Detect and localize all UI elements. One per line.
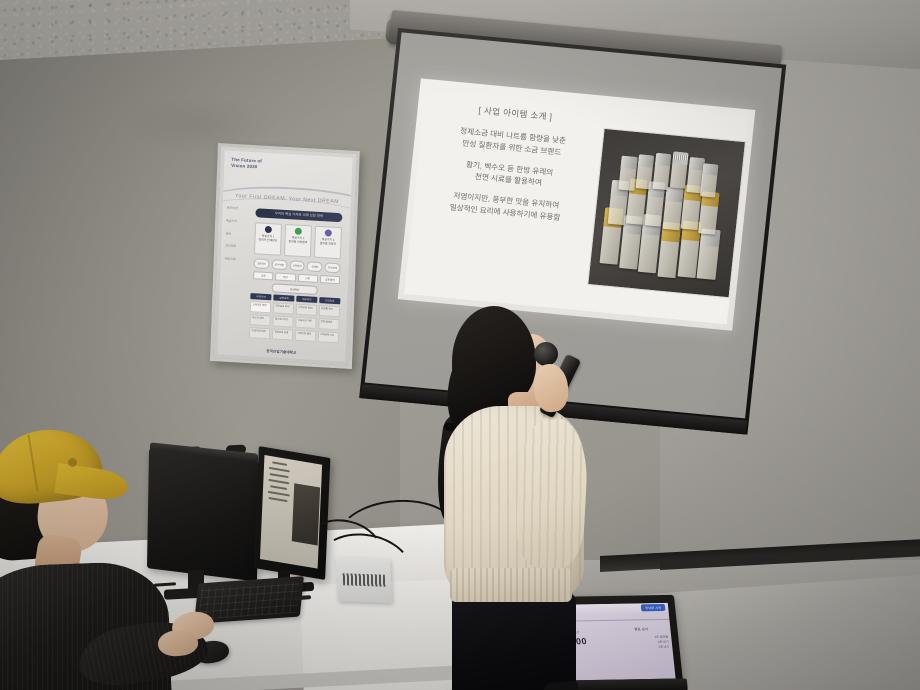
microphone-head-icon: [534, 342, 558, 366]
poster-table-column-1: 실행과제 현장실습 확대 캡스톤디자인 창업보육 운영: [272, 294, 295, 340]
poster-pillar-2: 핵심가치 2 현장형 산학협력: [284, 224, 312, 258]
slide-text-column: [ 사업 아이템 소개 ] 정제소금 대비 나트륨 함량을 낮춘 만성 질환자를…: [404, 85, 607, 311]
poster-pillar-1-desc: 창의적 인재양성: [258, 239, 277, 243]
slide-paragraph-3: 저염이지만, 풍부한 맛을 유지하여 일상적인 요리에 사용하기에 유용함: [449, 190, 562, 224]
order-heading: 발표 순서: [615, 627, 668, 634]
poster-capsule-row: 교육혁신 연구역량 산학협력 국제화 지역상생: [253, 258, 340, 273]
poster-center-pill: 전략목표: [272, 283, 318, 295]
poster-minibox-3: 글로벌화: [320, 275, 341, 284]
poster-table-cell-1-2: 기술이전 지원: [295, 316, 317, 329]
poster-logo: The Future of Vision 2030: [231, 157, 262, 170]
poster-row-label-0: 비전/미션: [227, 207, 255, 212]
poster-capsule-0: 교육혁신: [253, 258, 269, 269]
poster-table-cell-0-0: 교육과정 개편: [250, 301, 272, 314]
poster-minibox-2: 산학: [297, 274, 318, 283]
poster-pillar-1: 핵심가치 1 창의적 인재양성: [254, 222, 282, 256]
projected-slide: [ 사업 아이템 소개 ] 정제소금 대비 나트륨 함량을 낮춘 만성 질환자를…: [398, 78, 756, 330]
poster-capsule-2: 산학협력: [289, 260, 305, 271]
desk-nameplate: [336, 557, 392, 603]
presenter-sweater-hem: [450, 568, 572, 602]
poster-capsule-3: 국제화: [307, 261, 323, 272]
poster-table-cell-1-1: 캡스톤디자인: [272, 315, 294, 328]
poster-row-label-3: 추진과제: [225, 245, 253, 250]
poster-row-label-2: 전략: [226, 232, 254, 237]
poster-row-label-4: 세부과제: [225, 258, 253, 263]
slide-paragraph-1: 정제소금 대비 나트륨 함량을 낮춘 만성 질환자를 위한 소금 브랜드: [458, 125, 566, 158]
poster-table-cell-2-2: 지역기업 협력: [295, 329, 317, 342]
poster-row-labels: 비전/미션 핵심가치 전략 추진과제 세부과제: [224, 207, 254, 272]
poster-table: 추진전략 교육과정 개편 비교과 강화 학생지원 체계 실행과제 현장실습 확대…: [249, 293, 341, 343]
poster-pillar-3: 핵심가치 3 글로벌 경쟁력: [314, 226, 342, 260]
poster-table-header-0: 추진전략: [250, 293, 272, 300]
poster-minibox-1: 연구: [275, 272, 296, 281]
desk-nameplate-text: [343, 573, 386, 586]
poster-table-cell-0-3: 취업률 향상: [318, 305, 340, 318]
presenter-skirt: [452, 592, 576, 690]
presenter-person: [424, 306, 604, 690]
poster-table-cell-2-1: 창업보육 운영: [272, 328, 294, 341]
poster-row-label-1: 핵심가치: [226, 219, 254, 224]
slide-title: [ 사업 아이템 소개 ]: [478, 104, 553, 123]
poster-table-column-3: 기대효과 취업률 향상 창업 활성화 지역경제 기여: [317, 297, 340, 343]
poster-pillar-2-desc: 현장형 산학협력: [288, 241, 307, 245]
order-item-2: 3조 대기: [617, 645, 670, 651]
poster-table-header-1: 실행과제: [273, 294, 295, 301]
poster-capsule-4: 지역상생: [325, 262, 341, 273]
poster-table-cell-0-2: 산학공동 R&D: [296, 303, 318, 316]
poster-table-header-3: 기대효과: [319, 297, 341, 304]
poster-pillars: 핵심가치 1 창의적 인재양성 핵심가치 2 현장형 산학협력 핵심가치 3 글…: [254, 222, 342, 259]
poster-table-column-0: 추진전략 교육과정 개편 비교과 강화 학생지원 체계: [249, 293, 272, 339]
slide-paragraph-2: 황기, 백수오 등 한방 유래의 천연 시료를 활용하여: [464, 159, 553, 191]
poster-minibox-0: 교육: [253, 271, 274, 280]
seated-person: [0, 424, 192, 690]
poster-table-cell-2-3: 지역경제 기여: [317, 331, 339, 344]
monitor-slide-text: [260, 455, 295, 564]
poster-table-cell-2-0: 학생지원 체계: [249, 327, 271, 340]
poster-table-column-2: 세부추진 산학공동 R&D 기술이전 지원 지역기업 협력: [295, 296, 318, 342]
salt-jars-photo: [588, 128, 746, 298]
slide-image-column: [585, 102, 749, 324]
poster-table-cell-1-0: 비교과 강화: [249, 314, 271, 327]
poster-minibox-row: 교육 연구 산학 글로벌화: [253, 271, 340, 284]
laptop-order-panel: 발표 순서 1조 발표중 2조 대기 3조 대기: [611, 622, 675, 680]
presentation-room-photo: [ 사업 아이템 소개 ] 정제소금 대비 나트륨 함량을 낮춘 만성 질환자를…: [0, 0, 920, 690]
poster-table-header-2: 세부추진: [296, 296, 318, 303]
poster-table-cell-0-1: 현장실습 확대: [273, 302, 295, 315]
poster-footer-logo: 한국산업기술대학교: [217, 345, 345, 357]
yellow-cap-logo-icon: [68, 458, 77, 467]
presenter-hair: [452, 306, 536, 406]
wall-poster: The Future of Vision 2030 Your First DRE…: [210, 143, 360, 369]
poster-capsule-1: 연구역량: [271, 259, 287, 270]
poster-logo-main: Vision 2030: [231, 162, 257, 169]
poster-pillar-3-desc: 글로벌 경쟁력: [320, 242, 336, 246]
timer-start-button[interactable]: 타이머 시작: [641, 604, 665, 611]
poster-table-cell-1-3: 창업 활성화: [318, 318, 340, 331]
